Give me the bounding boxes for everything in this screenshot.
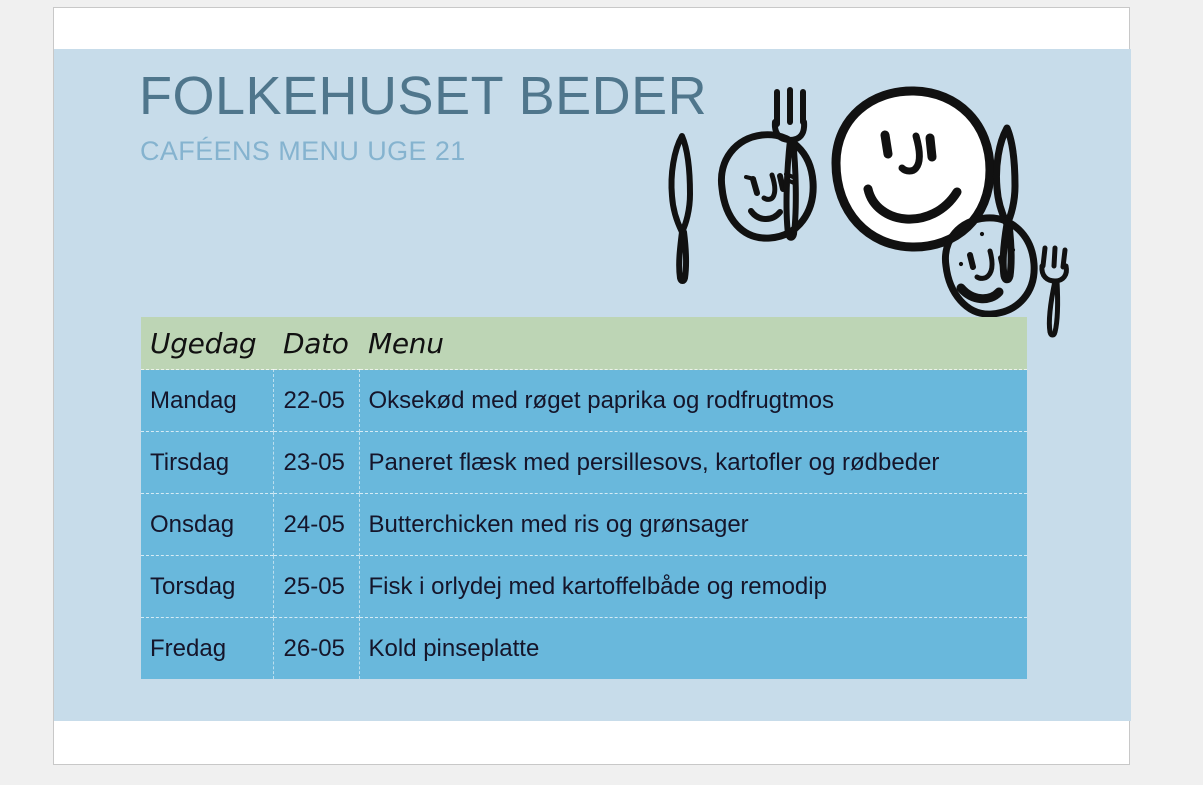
cell-date: 25-05 [273, 556, 359, 618]
cell-day: Fredag [141, 618, 273, 680]
column-header-menu: Menu [359, 317, 1027, 370]
page-subtitle: CAFÉENS MENU UGE 21 [140, 136, 466, 167]
column-header-date: Dato [273, 317, 359, 370]
page-canvas: FOLKEHUSET BEDER CAFÉENS MENU UGE 21 [0, 0, 1203, 785]
table-row: Tirsdag 23-05 Paneret flæsk med persille… [141, 432, 1027, 494]
table-row: Fredag 26-05 Kold pinseplatte [141, 618, 1027, 680]
menu-table-body: Mandag 22-05 Oksekød med røget paprika o… [141, 370, 1027, 680]
cell-menu: Oksekød med røget paprika og rodfrugtmos [359, 370, 1027, 432]
cell-menu: Fisk i orlydej med kartoffelbåde og remo… [359, 556, 1027, 618]
cell-date: 24-05 [273, 494, 359, 556]
table-header-row: Ugedag Dato Menu [141, 317, 1027, 370]
table-row: Onsdag 24-05 Butterchicken med ris og gr… [141, 494, 1027, 556]
cell-date: 22-05 [273, 370, 359, 432]
cell-menu: Paneret flæsk med persillesovs, kartofle… [359, 432, 1027, 494]
column-header-day: Ugedag [141, 317, 273, 370]
page-title: FOLKEHUSET BEDER [139, 68, 707, 125]
cell-menu: Butterchicken med ris og grønsager [359, 494, 1027, 556]
menu-table: Ugedag Dato Menu Mandag 22-05 Oksekød me… [141, 317, 1027, 679]
cell-date: 26-05 [273, 618, 359, 680]
cell-day: Torsdag [141, 556, 273, 618]
table-row: Torsdag 25-05 Fisk i orlydej med kartoff… [141, 556, 1027, 618]
table-row: Mandag 22-05 Oksekød med røget paprika o… [141, 370, 1027, 432]
cell-day: Onsdag [141, 494, 273, 556]
cell-menu: Kold pinseplatte [359, 618, 1027, 680]
menu-table-head: Ugedag Dato Menu [141, 317, 1027, 370]
cell-day: Tirsdag [141, 432, 273, 494]
cell-date: 23-05 [273, 432, 359, 494]
slide: FOLKEHUSET BEDER CAFÉENS MENU UGE 21 [53, 7, 1130, 765]
cell-day: Mandag [141, 370, 273, 432]
